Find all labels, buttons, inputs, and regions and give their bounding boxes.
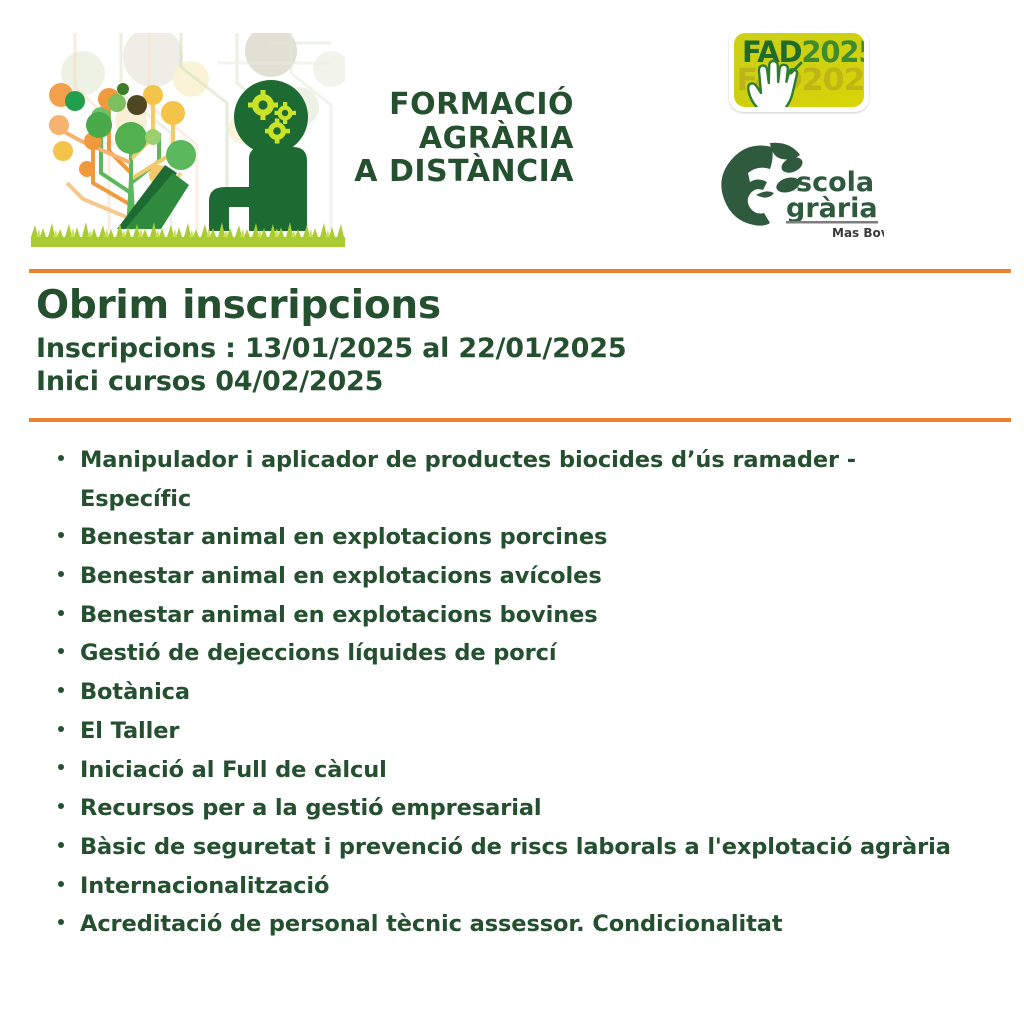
- bullet-icon: [58, 571, 64, 577]
- bullet-icon: [58, 687, 64, 693]
- escola-agraria-logo[interactable]: scola grària Mas Bové: [716, 133, 884, 243]
- page-title: Obrim inscripcions: [36, 286, 996, 327]
- subtitle-block: Inscripcions : 13/01/2025 al 22/01/2025 …: [36, 333, 996, 399]
- course-label: Internacionalització: [80, 873, 329, 899]
- bullet-icon: [58, 532, 64, 538]
- poster-page: FORMACIÓ AGRÀRIA A DISTÀNCIA FAD2025 FAD…: [0, 0, 1024, 1024]
- course-label: Gestió de dejeccions líquides de porcí: [80, 640, 556, 666]
- list-item[interactable]: Acreditació de personal tècnic assessor.…: [80, 905, 960, 944]
- course-label: Recursos per a la gestió empresarial: [80, 795, 542, 821]
- list-item[interactable]: Manipulador i aplicador de productes bio…: [80, 441, 960, 518]
- bullet-icon: [58, 764, 64, 770]
- hand-cursor-icon: [742, 59, 828, 107]
- list-item[interactable]: El Taller: [80, 712, 960, 751]
- header-illustration: [31, 33, 345, 255]
- course-label: Benestar animal en explotacions avícoles: [80, 563, 602, 589]
- brand-wordmark: FORMACIÓ AGRÀRIA A DISTÀNCIA: [342, 88, 574, 189]
- list-item[interactable]: Benestar animal en explotacions avícoles: [80, 557, 960, 596]
- list-item[interactable]: Iniciació al Full de càlcul: [80, 751, 960, 790]
- list-item[interactable]: Benestar animal en explotacions porcines: [80, 518, 960, 557]
- fad-2025-logo[interactable]: FAD2025 FAD2025: [729, 28, 869, 112]
- divider-middle: [29, 418, 1011, 422]
- escola-logo-line-3: Mas Bové: [832, 226, 884, 240]
- bullet-icon: [58, 803, 64, 809]
- titles-block: Obrim inscripcions Inscripcions : 13/01/…: [36, 286, 996, 399]
- escola-agraria-mark-icon: scola grària Mas Bové: [716, 133, 884, 243]
- course-label: Benestar animal en explotacions bovines: [80, 602, 598, 628]
- wordmark-line-2: AGRÀRIA: [342, 122, 574, 156]
- bullet-icon: [58, 919, 64, 925]
- list-item[interactable]: Gestió de dejeccions líquides de porcí: [80, 634, 960, 673]
- fad-logo-plate: FAD2025 FAD2025: [734, 33, 864, 107]
- escola-logo-line-2: grària: [786, 193, 878, 224]
- course-label: Botànica: [80, 679, 190, 705]
- subtitle-enrollment-dates: Inscripcions : 13/01/2025 al 22/01/2025: [36, 333, 996, 366]
- course-label: Benestar animal en explotacions porcines: [80, 524, 607, 550]
- subtitle-course-start: Inici cursos 04/02/2025: [36, 366, 996, 399]
- course-label: Bàsic de seguretat i prevenció de riscs …: [80, 834, 951, 860]
- bullet-icon: [58, 610, 64, 616]
- list-item[interactable]: Recursos per a la gestió empresarial: [80, 789, 960, 828]
- list-item[interactable]: Botànica: [80, 673, 960, 712]
- header-banner: FORMACIÓ AGRÀRIA A DISTÀNCIA FAD2025 FAD…: [0, 0, 1024, 258]
- tree-person-laptop-icon: [31, 33, 345, 255]
- list-item[interactable]: Bàsic de seguretat i prevenció de riscs …: [80, 828, 960, 867]
- bullet-icon: [58, 726, 64, 732]
- wordmark-line-1: FORMACIÓ: [342, 88, 574, 122]
- course-label: El Taller: [80, 718, 179, 744]
- course-label: Manipulador i aplicador de productes bio…: [80, 447, 856, 512]
- course-label: Acreditació de personal tècnic assessor.…: [80, 911, 783, 937]
- course-label: Iniciació al Full de càlcul: [80, 757, 387, 783]
- divider-top: [29, 269, 1011, 273]
- wordmark-line-3: A DISTÀNCIA: [342, 155, 574, 189]
- bullet-icon: [58, 842, 64, 848]
- bullet-icon: [58, 648, 64, 654]
- course-list: Manipulador i aplicador de productes bio…: [46, 441, 1020, 944]
- bullet-icon: [58, 881, 64, 887]
- bullet-icon: [58, 455, 64, 461]
- list-item[interactable]: Benestar animal en explotacions bovines: [80, 596, 960, 635]
- list-item[interactable]: Internacionalització: [80, 867, 960, 906]
